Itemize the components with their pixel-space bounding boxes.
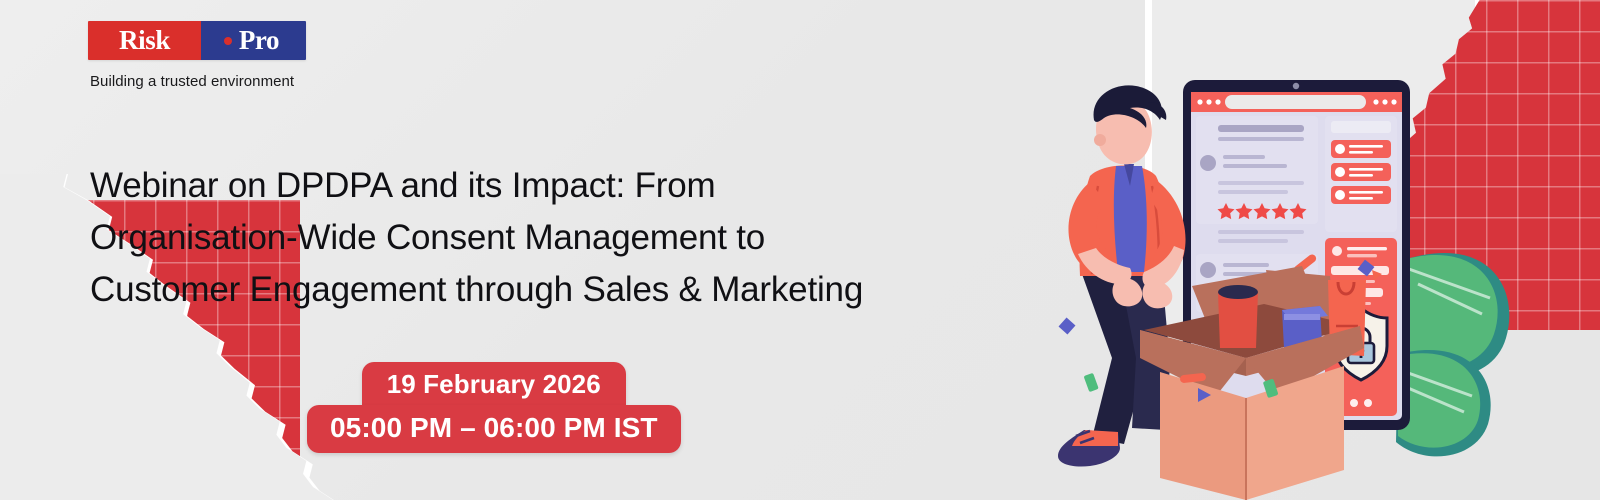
date-badge: 19 February 2026 [362, 362, 626, 406]
camera-dot-icon [1293, 83, 1299, 89]
logo-risk-panel: Risk [88, 21, 201, 60]
red-cup-item [1218, 292, 1258, 348]
page-title: Webinar on DPDPA and its Impact: From Or… [90, 160, 1070, 316]
headline-line-2: Organisation-Wide Consent Management to [90, 212, 1070, 264]
brand-logo[interactable]: Risk Pro Building a trusted environment [88, 21, 306, 90]
hero-illustration [1020, 58, 1600, 500]
logo-mark: Risk Pro [88, 21, 306, 60]
webinar-banner: Risk Pro Building a trusted environment … [0, 0, 1600, 500]
plant-leaves [1396, 253, 1509, 456]
address-bar [1225, 95, 1366, 109]
avatar [1200, 155, 1216, 171]
logo-pro-panel: Pro [201, 21, 306, 60]
schedule-badges: 19 February 2026 05:00 PM – 06:00 PM IST [307, 362, 681, 453]
logo-word-risk: Risk [119, 27, 170, 54]
time-badge: 05:00 PM – 06:00 PM IST [307, 405, 681, 453]
dot-icon [224, 37, 232, 45]
headline-line-1: Webinar on DPDPA and its Impact: From [90, 160, 1070, 212]
sidebar-card-list [1331, 140, 1391, 204]
brand-tagline: Building a trusted environment [90, 73, 306, 90]
headline-line-3: Customer Engagement through Sales & Mark… [90, 264, 1070, 316]
logo-word-pro: Pro [239, 27, 279, 54]
